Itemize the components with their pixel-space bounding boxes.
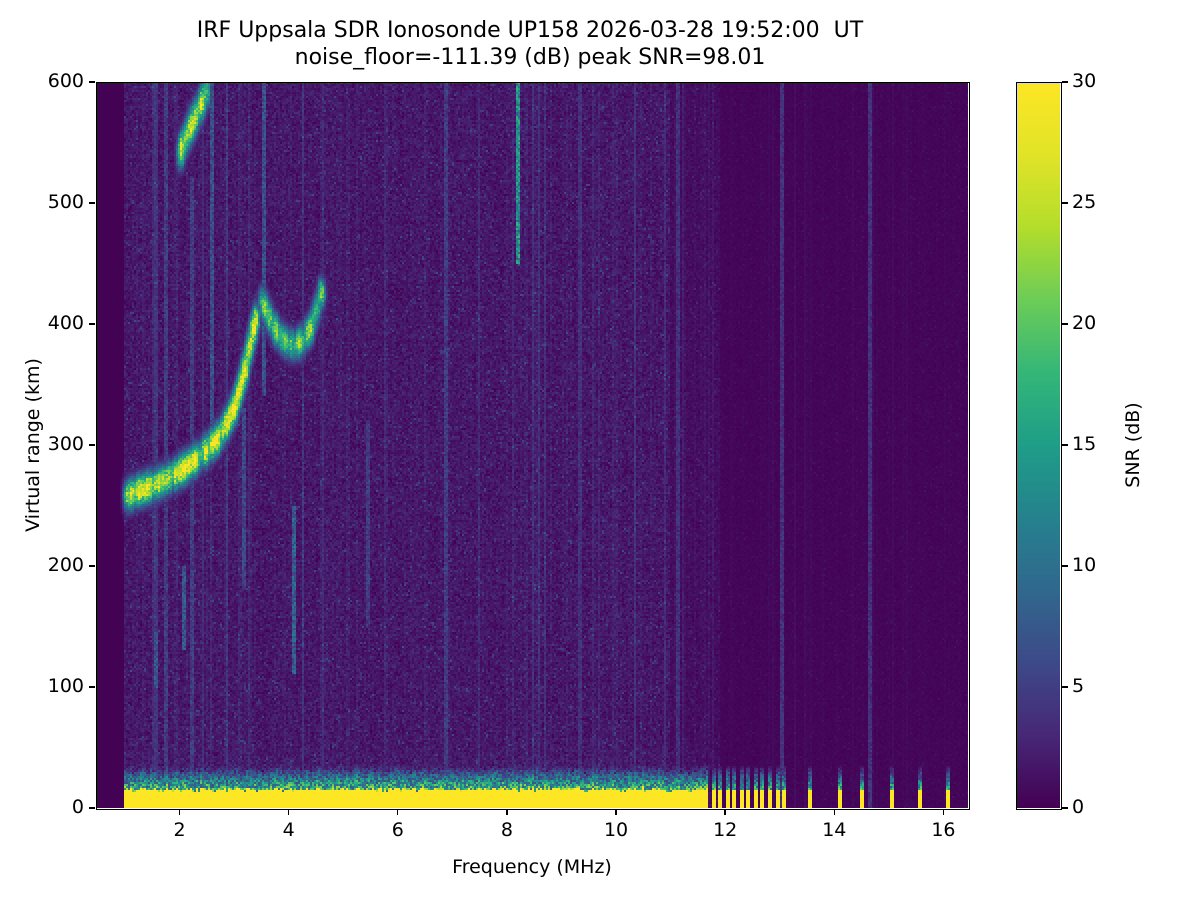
x-tick-mark — [724, 809, 725, 815]
x-tick-label: 6 — [368, 819, 428, 841]
colorbar-tick-label: 10 — [1072, 554, 1132, 576]
x-tick-label: 16 — [913, 819, 973, 841]
y-tick-label: 0 — [4, 796, 84, 818]
y-tick-label: 400 — [4, 312, 84, 334]
colorbar-tick-mark — [1062, 565, 1068, 566]
x-tick-mark — [397, 809, 398, 815]
x-tick-label: 4 — [259, 819, 319, 841]
title-line-1: IRF Uppsala SDR Ionosonde UP158 2026-03-… — [0, 18, 1060, 45]
y-axis-title: Virtual range (km) — [22, 358, 44, 532]
x-tick-mark — [179, 809, 180, 815]
y-tick-mark — [89, 565, 95, 566]
colorbar-axis-title: SNR (dB) — [1122, 402, 1144, 487]
figure-title: IRF Uppsala SDR Ionosonde UP158 2026-03-… — [0, 18, 1060, 72]
y-tick-mark — [89, 323, 95, 324]
x-tick-mark — [615, 809, 616, 815]
colorbar-tick-label: 20 — [1072, 312, 1132, 334]
x-tick-mark — [288, 809, 289, 815]
x-tick-label: 8 — [477, 819, 537, 841]
ionogram-heatmap — [96, 82, 968, 808]
y-tick-mark — [89, 202, 95, 203]
x-tick-mark — [943, 809, 944, 815]
colorbar-tick-mark — [1062, 323, 1068, 324]
x-tick-label: 10 — [586, 819, 646, 841]
colorbar-tick-mark — [1062, 202, 1068, 203]
colorbar-tick-mark — [1062, 81, 1068, 82]
x-axis-title: Frequency (MHz) — [96, 856, 968, 878]
colorbar-tick-label: 30 — [1072, 70, 1132, 92]
y-tick-label: 600 — [4, 70, 84, 92]
colorbar-gradient — [1016, 82, 1060, 808]
y-tick-mark — [89, 686, 95, 687]
y-tick-label: 100 — [4, 675, 84, 697]
x-tick-label: 12 — [695, 819, 755, 841]
x-tick-label: 14 — [804, 819, 864, 841]
y-tick-mark — [89, 807, 95, 808]
y-tick-label: 300 — [4, 433, 84, 455]
y-tick-mark — [89, 81, 95, 82]
ionogram-figure: IRF Uppsala SDR Ionosonde UP158 2026-03-… — [0, 0, 1200, 900]
colorbar-tick-mark — [1062, 444, 1068, 445]
title-line-2: noise_floor=-111.39 (dB) peak SNR=98.01 — [0, 45, 1060, 72]
y-tick-label: 200 — [4, 554, 84, 576]
colorbar-tick-label: 0 — [1072, 796, 1132, 818]
x-tick-mark — [506, 809, 507, 815]
y-tick-mark — [89, 444, 95, 445]
colorbar-tick-label: 25 — [1072, 191, 1132, 213]
x-tick-label: 2 — [149, 819, 209, 841]
colorbar-tick-label: 5 — [1072, 675, 1132, 697]
colorbar-tick-mark — [1062, 807, 1068, 808]
colorbar-tick-mark — [1062, 686, 1068, 687]
x-tick-mark — [834, 809, 835, 815]
y-tick-label: 500 — [4, 191, 84, 213]
